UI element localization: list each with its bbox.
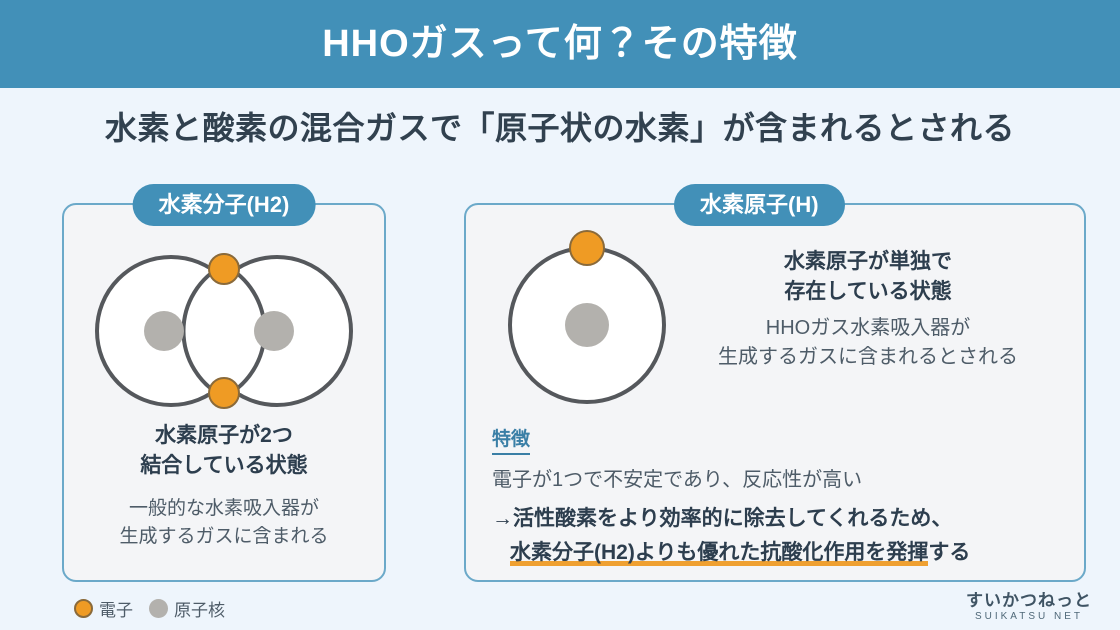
left-bold-text: 水素原子が2つ 結合している状態 xyxy=(64,421,384,481)
legend-label-nucleus: 原子核 xyxy=(174,596,225,621)
right-bold-block: 水素原子が単独で 存在している状態 xyxy=(662,247,1074,307)
feature-line-2: →活性酸素をより効率的に除去してくれるため、 xyxy=(492,505,952,533)
nucleus-dot-icon xyxy=(149,599,168,618)
electron-top xyxy=(209,254,239,284)
site-logo: すいかつねっと SUIKATSU NET xyxy=(966,592,1092,622)
legend: 電子 原子核 xyxy=(74,596,225,621)
badge-hydrogen-molecule: 水素分子(H2) xyxy=(133,184,316,226)
page-title: HHOガスって何？その特徴 xyxy=(322,25,798,63)
hydrogen-molecule-diagram xyxy=(81,253,367,414)
hydrogen-atom-diagram xyxy=(492,225,682,420)
feature-heading: 特徴 xyxy=(492,429,530,455)
nucleus xyxy=(565,303,609,347)
infographic-canvas: HHOガスって何？その特徴 水素と酸素の混合ガスで「原子状の水素」が含まれるとさ… xyxy=(0,0,1120,630)
legend-label-electron: 電子 xyxy=(99,596,133,621)
right-top-text: 水素原子が単独で 存在している状態 HHOガス水素吸入器が 生成するガスに含まれ… xyxy=(662,247,1074,372)
left-sub-text: 一般的な水素吸入器が 生成するガスに含まれる xyxy=(64,495,384,550)
badge-hydrogen-atom: 水素原子(H) xyxy=(674,184,845,226)
subtitle-row: 水素と酸素の混合ガスで「原子状の水素」が含まれるとされる xyxy=(0,88,1120,164)
nucleus-right xyxy=(254,311,294,351)
right-bold-line2: 存在している状態 xyxy=(662,277,1074,307)
logo-sub-text: SUIKATSU NET xyxy=(966,612,1092,622)
card-hydrogen-atom: 水素原子(H) 水素原子が単独で 存在している状態 HHOガス水素吸入器が 生成… xyxy=(464,203,1086,582)
electron-dot-icon xyxy=(74,599,93,618)
left-bold-line1: 水素原子が2つ xyxy=(64,421,384,451)
feature-line-3: 水素分子(H2)よりも優れた抗酸化作用を発揮する xyxy=(510,539,970,567)
card-hydrogen-molecule: 水素分子(H2) 水素原子が2つ 結合してい xyxy=(62,203,386,582)
header-bar: HHOガスって何？その特徴 xyxy=(0,0,1120,88)
left-sub-line2: 生成するガスに含まれる xyxy=(64,523,384,551)
right-sub-block: HHOガス水素吸入器が 生成するガスに含まれるとされる xyxy=(662,314,1074,372)
legend-item-electron: 電子 xyxy=(74,596,133,621)
logo-main-text: すいかつねっと xyxy=(966,592,1092,609)
feature-line-1: 電子が1つで不安定であり、反応性が高い xyxy=(492,467,862,493)
right-bold-line1: 水素原子が単独で xyxy=(662,247,1074,277)
right-sub-line1: HHOガス水素吸入器が xyxy=(662,314,1074,343)
electron xyxy=(570,231,604,265)
electron-bottom xyxy=(209,378,239,408)
right-sub-line2: 生成するガスに含まれるとされる xyxy=(662,343,1074,372)
feature-line-3-highlight: 水素分子(H2)よりも優れた抗酸化作用を発揮 xyxy=(510,541,928,566)
left-bold-line2: 結合している状態 xyxy=(64,451,384,481)
left-sub-line1: 一般的な水素吸入器が xyxy=(64,495,384,523)
legend-item-nucleus: 原子核 xyxy=(149,596,225,621)
nucleus-left xyxy=(144,311,184,351)
subtitle-text: 水素と酸素の混合ガスで「原子状の水素」が含まれるとされる xyxy=(105,103,1015,149)
feature-line-3-tail: する xyxy=(928,541,970,564)
